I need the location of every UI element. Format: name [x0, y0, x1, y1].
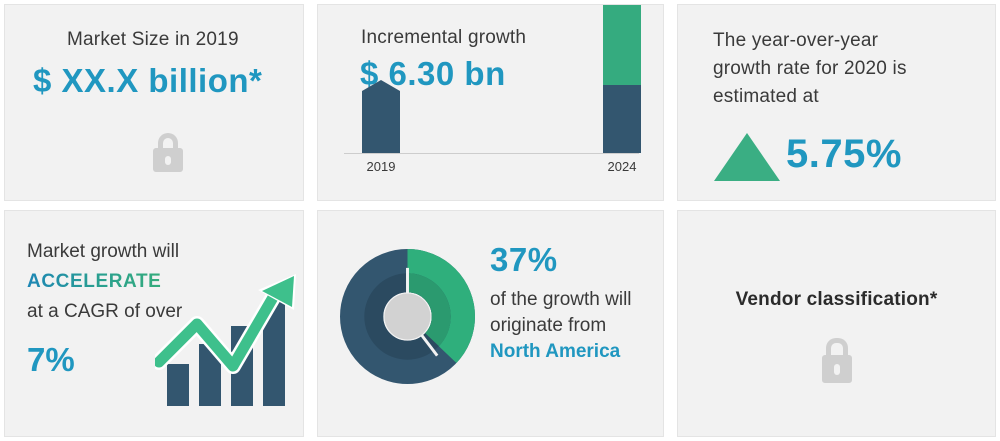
yoy-line-2: growth rate for 2020 is — [713, 55, 907, 83]
triangle-up-icon — [714, 133, 780, 181]
yoy-growth-value: 5.75% — [786, 132, 902, 177]
yoy-line-1: The year-over-year — [713, 27, 907, 55]
region-share-line-1: of the growth will — [490, 289, 632, 311]
panel-region-share: 37% of the growth will originate from No… — [317, 210, 664, 437]
bar-2024-label: 2024 — [608, 159, 637, 174]
region-share-line-2: originate from — [490, 315, 606, 337]
donut-chart — [340, 249, 475, 384]
yoy-growth-heading: The year-over-year growth rate for 2020 … — [713, 27, 907, 111]
lock-icon — [153, 133, 183, 173]
incremental-growth-heading: Incremental growth — [361, 27, 526, 49]
bar-chart-axis — [344, 153, 639, 154]
trend-bar-1 — [167, 364, 189, 406]
bar-2024: 2024 — [603, 4, 641, 153]
panel-market-size: Market Size in 2019 $ XX.X billion* — [4, 4, 304, 201]
growth-trend-chart — [155, 266, 304, 406]
panel-vendor-classification: Vendor classification* — [677, 210, 996, 437]
infographic-grid: Market Size in 2019 $ XX.X billion* Incr… — [0, 0, 1000, 441]
lock-icon — [822, 338, 852, 382]
region-share-value: 37% — [490, 241, 558, 279]
vendor-classification-heading: Vendor classification* — [736, 289, 938, 311]
panel-yoy-growth: The year-over-year growth rate for 2020 … — [677, 4, 996, 201]
yoy-line-3: estimated at — [713, 83, 907, 111]
cagr-accelerate-text: ACCELERATE — [27, 271, 161, 293]
market-size-value: $ XX.X billion* — [33, 62, 262, 100]
panel-cagr: Market growth will ACCELERATE at a CAGR … — [4, 210, 304, 437]
bar-2019: 2019 — [362, 91, 400, 153]
cagr-line-1: Market growth will — [27, 241, 179, 263]
market-size-heading: Market Size in 2019 — [67, 29, 239, 51]
panel-incremental-growth: Incremental growth $ 6.30 bn 2019 2024 — [317, 4, 664, 201]
bar-2019-label: 2019 — [367, 159, 396, 174]
cagr-value: 7% — [27, 341, 75, 379]
region-share-region: North America — [490, 341, 620, 363]
donut-center-hub — [385, 294, 431, 340]
